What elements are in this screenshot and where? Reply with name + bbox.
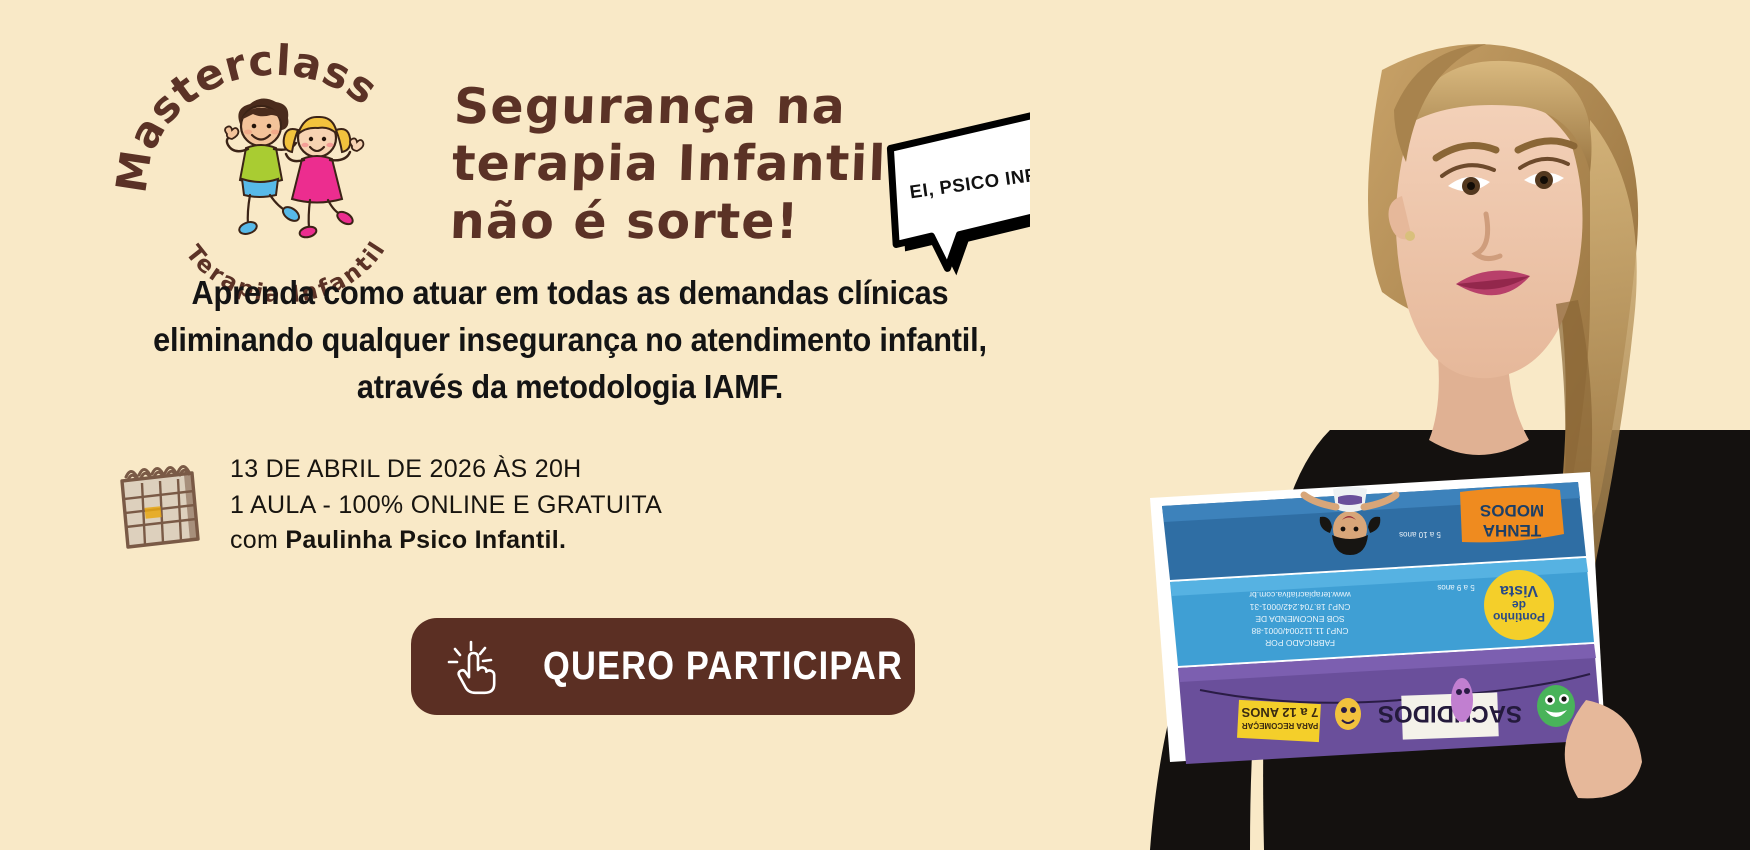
event-host: com Paulinha Psico Infantil.	[230, 523, 662, 559]
presenter-photo: TENHA MODOS 5 a 10 anos	[1030, 0, 1750, 850]
svg-text:SOB ENCOMENDA DE: SOB ENCOMENDA DE	[1255, 614, 1345, 624]
box2-title-line2: de	[1512, 598, 1526, 612]
left-content-column: Masterclass Terapia Infantil	[0, 0, 1150, 850]
svg-text:CNPJ 11.112004/0001-88: CNPJ 11.112004/0001-88	[1251, 626, 1348, 636]
masterclass-logo: Masterclass Terapia Infantil	[130, 42, 420, 257]
svg-text:CNPJ 18.704.242/0001-31: CNPJ 18.704.242/0001-31	[1249, 602, 1350, 612]
host-prefix: com	[230, 526, 285, 554]
subhead-line-2: eliminando qualquer insegurança no atend…	[96, 317, 1045, 364]
logo-boy-figure	[225, 98, 302, 236]
host-name: Paulinha Psico Infantil.	[285, 526, 566, 554]
quero-participar-button[interactable]: QUERO PARTICIPAR	[411, 618, 915, 715]
click-hand-icon	[447, 638, 499, 696]
svg-text:FABRICADO POR: FABRICADO POR	[1265, 638, 1335, 648]
subheadline: Aprenda como atuar em todas as demandas …	[96, 270, 1045, 411]
box3-monster-green	[1537, 685, 1575, 727]
event-format: 1 AULA - 100% ONLINE E GRATUITA	[230, 488, 662, 524]
box1-title-line1: TENHA	[1483, 521, 1542, 540]
box3-note: PARA RECOMEÇAR	[1242, 721, 1319, 730]
event-details-text: 13 DE ABRIL DE 2026 ÀS 20H 1 AULA - 100%…	[230, 452, 662, 559]
subhead-line-1: Aprenda como atuar em todas as demandas …	[96, 270, 1045, 317]
event-details: 13 DE ABRIL DE 2026 ÀS 20H 1 AULA - 100%…	[112, 452, 662, 559]
promo-banner: Masterclass Terapia Infantil	[0, 0, 1750, 850]
box3-age: 7 a 12 ANOS	[1241, 705, 1318, 720]
box1-title-line2: MODOS	[1480, 501, 1544, 520]
subhead-line-3: através da metodologia IAMF.	[96, 364, 1045, 411]
box2-title-line3: Vista	[1500, 582, 1538, 599]
box3-monster-yellow	[1335, 698, 1361, 730]
box2-age: 5 a 9 anos	[1437, 583, 1474, 592]
calendar-icon	[112, 459, 208, 551]
box1-age: 5 a 10 anos	[1399, 530, 1441, 539]
cta-label: QUERO PARTICIPAR	[543, 644, 903, 689]
svg-text:www.terapiacriativa.com.br: www.terapiacriativa.com.br	[1249, 590, 1352, 600]
box3-monster-purple	[1451, 678, 1473, 722]
box3-title: SACUDIDOS	[1378, 700, 1522, 727]
event-date: 13 DE ABRIL DE 2026 ÀS 20H	[230, 452, 662, 488]
